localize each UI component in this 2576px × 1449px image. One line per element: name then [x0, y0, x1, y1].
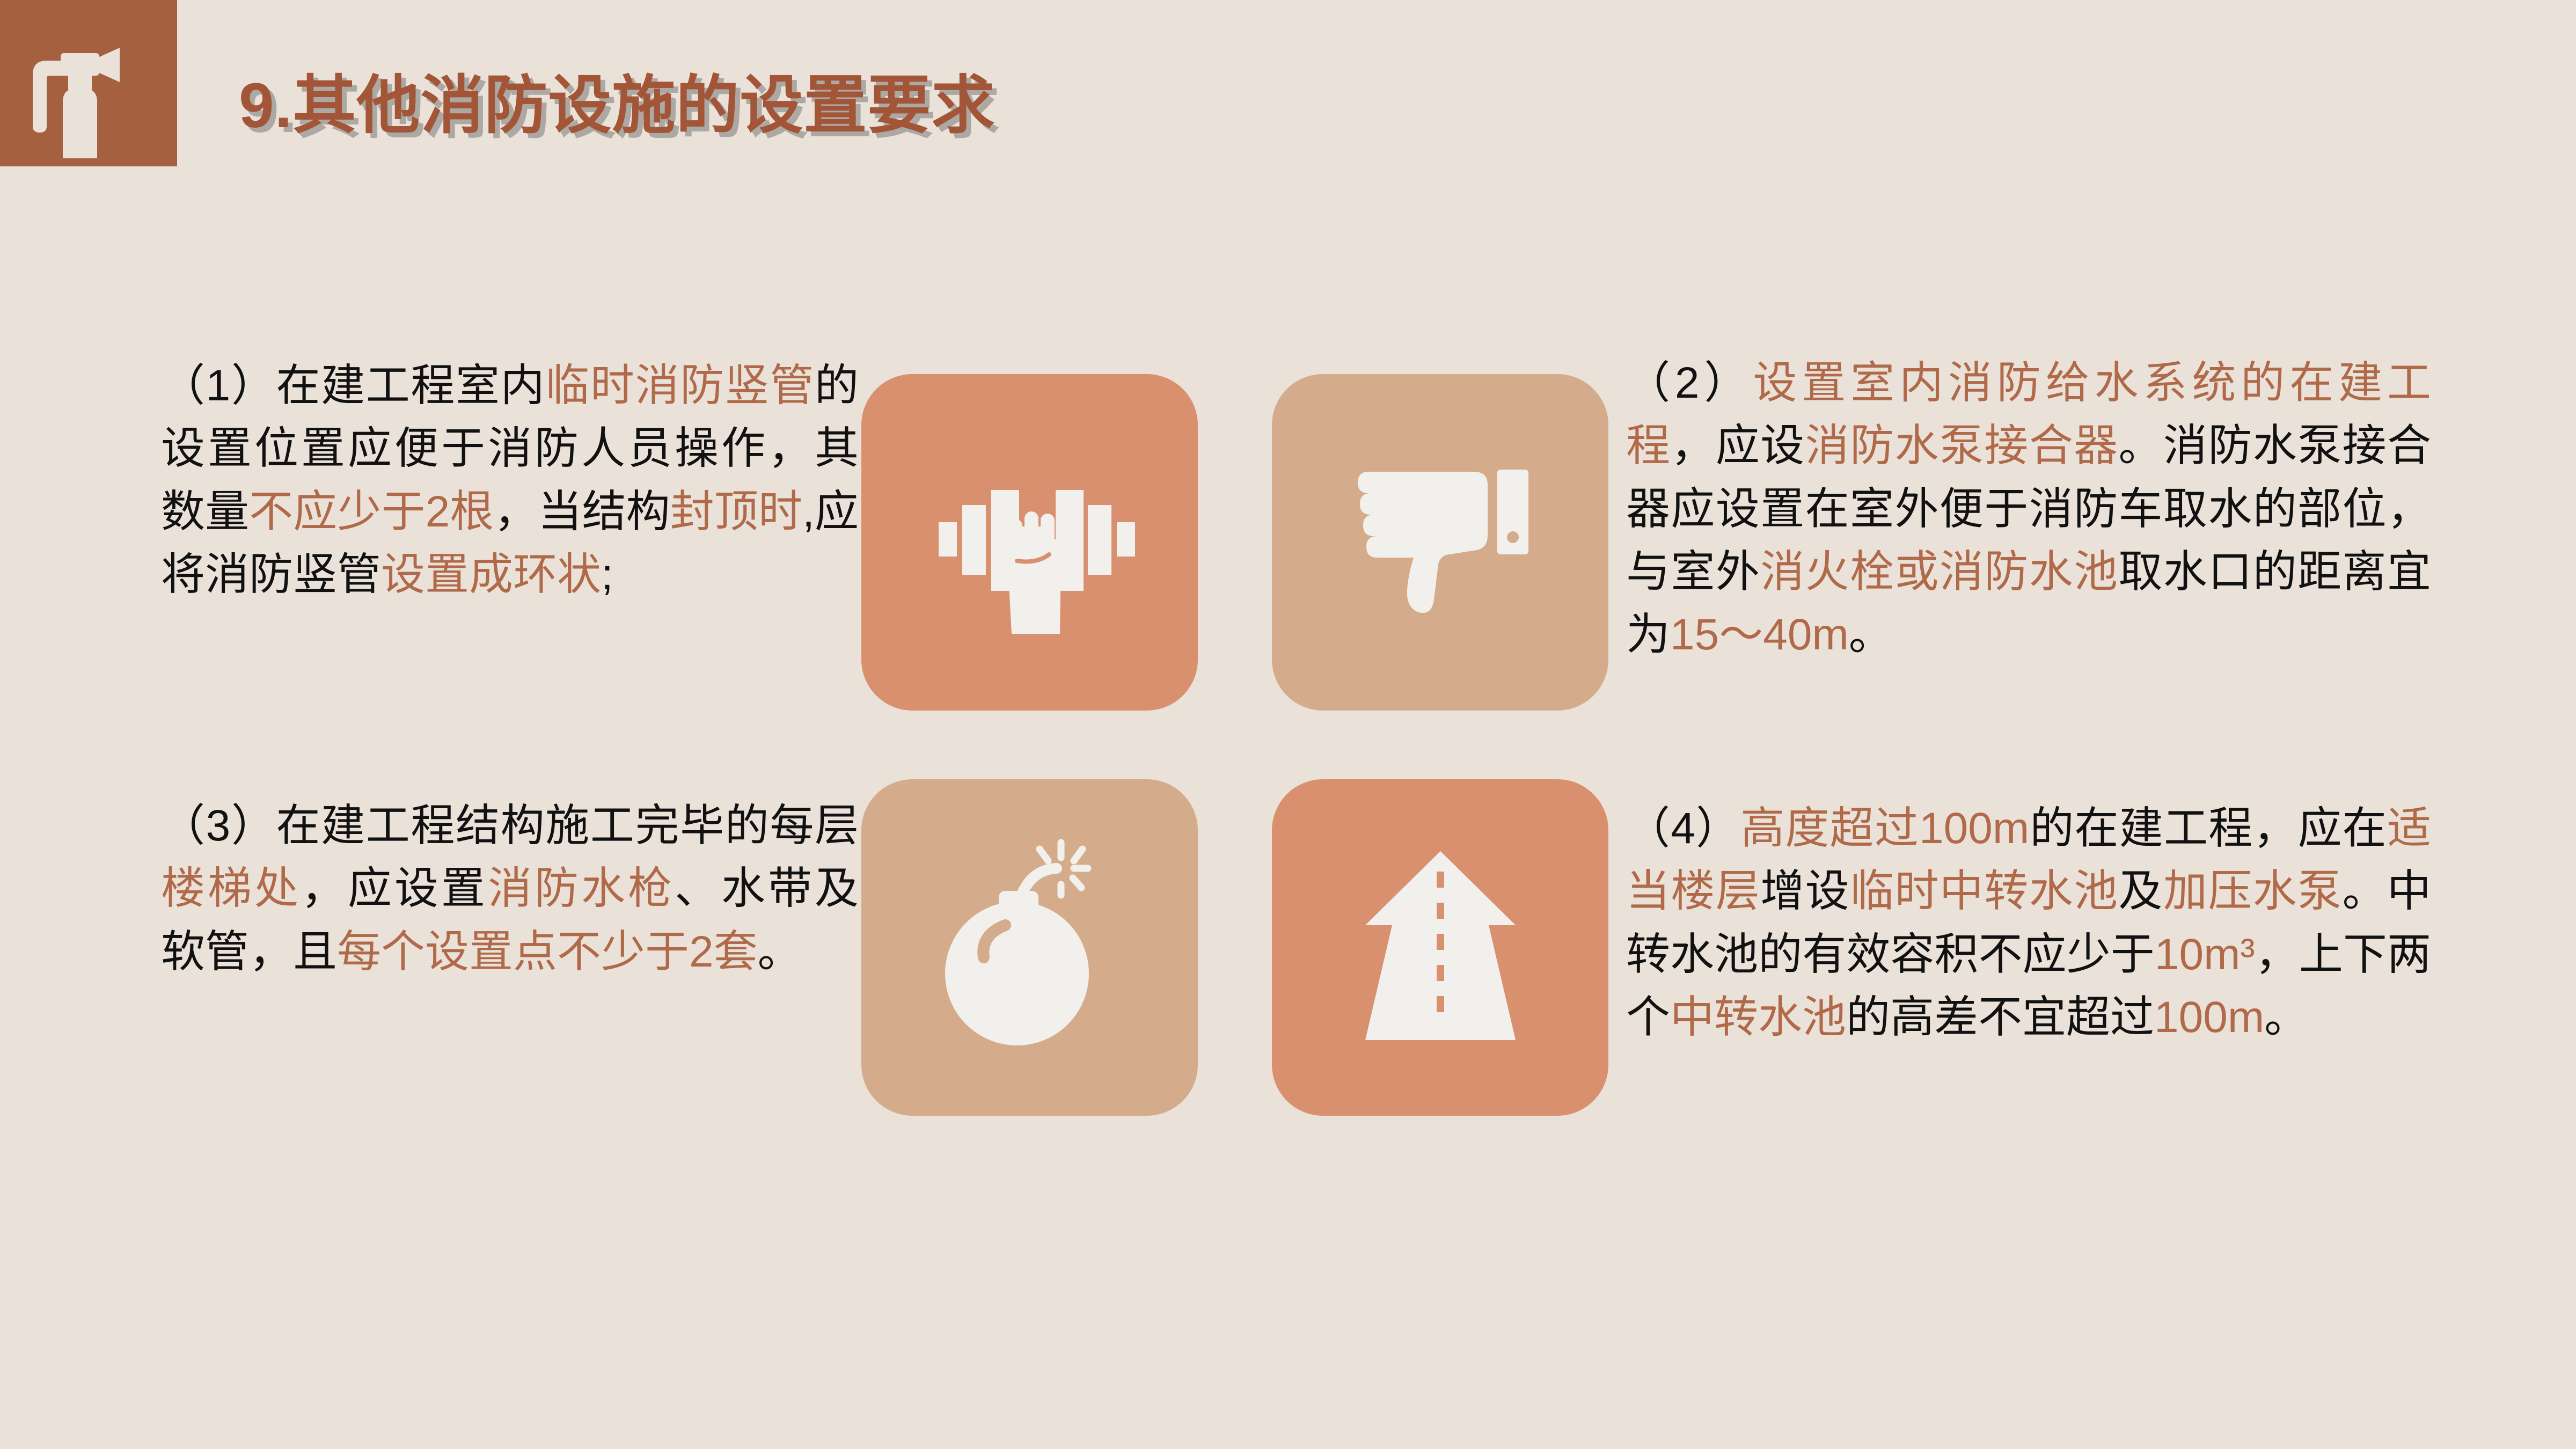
run-accent: 加压水泵 — [2163, 867, 2343, 916]
run-accent: 每个设置点不少于2套 — [337, 927, 758, 976]
run-accent: 消防水枪 — [488, 864, 675, 913]
dumbbell-in-hand-icon — [917, 430, 1143, 655]
paragraph-2: （2）设置室内消防给水系统的在建工程，应设消防水泵接合器。消防水泵接合器应设置在… — [1626, 352, 2431, 666]
run-accent: 高度超过100m — [1740, 804, 2029, 853]
run: （1）在建工程室内 — [161, 361, 545, 410]
run-accent: 临时消防竖管 — [545, 361, 815, 410]
run: 增设 — [1760, 867, 1850, 916]
run-accent: 设置成环状 — [381, 550, 601, 599]
run-accent: 15～40m — [1670, 610, 1849, 659]
paragraph-4: （4）高度超过100m的在建工程，应在适当楼层增设临时中转水池及加压水泵。中转水… — [1626, 797, 2431, 1049]
run-accent: 10m³ — [2155, 930, 2255, 979]
road-arrow-up-icon — [1333, 840, 1548, 1055]
run: 。 — [1849, 610, 1893, 659]
run-accent: 临时中转水池 — [1850, 867, 2118, 916]
thumbs-down-icon — [1333, 435, 1548, 650]
run: （4） — [1626, 804, 1740, 853]
run-accent: 100m — [2154, 993, 2264, 1042]
run: ，当结构 — [494, 487, 670, 536]
icon-tile-thumbs-down — [1272, 374, 1608, 711]
run-accent: 中转水池 — [1670, 993, 1846, 1042]
icon-tile-bomb — [861, 779, 1198, 1116]
fire-extinguisher-icon — [30, 30, 148, 158]
run-accent: 封顶时 — [670, 487, 802, 536]
run: （3）在建工程结构施工完毕的每层 — [161, 801, 859, 850]
run: ; — [601, 550, 613, 599]
run: 的在建工程，应在 — [2029, 804, 2387, 853]
run: 。 — [2264, 993, 2308, 1042]
run: 的高差不宜超过 — [1846, 993, 2154, 1042]
run: ，应设 — [1671, 421, 1805, 470]
paragraph-3: （3）在建工程结构施工完毕的每层楼梯处，应设置消防水枪、水带及软管，且每个设置点… — [161, 794, 859, 983]
slide-root: 9.其他消防设施的设置要求 （1）在建工程室内临时消防竖管的设置位置应便于消防人… — [0, 0, 2576, 1449]
bomb-icon — [917, 835, 1143, 1060]
run-accent: 消火栓或消防水池 — [1760, 547, 2118, 596]
paragraph-1: （1）在建工程室内临时消防竖管的设置位置应便于消防人员操作，其数量不应少于2根，… — [161, 354, 859, 606]
run: 。 — [758, 927, 802, 976]
icon-tile-road-arrow — [1272, 779, 1608, 1116]
run-accent: 楼梯处 — [161, 864, 301, 913]
run-accent: 不应少于2根 — [249, 487, 494, 536]
run: 及 — [2119, 867, 2163, 916]
page-title: 9.其他消防设施的设置要求 — [239, 70, 995, 143]
run-accent: 消防水泵接合器 — [1805, 421, 2119, 470]
run: （2） — [1626, 358, 1753, 407]
run: ，应设置 — [301, 864, 488, 913]
header-badge — [0, 0, 177, 166]
icon-tile-dumbbell — [861, 374, 1198, 711]
